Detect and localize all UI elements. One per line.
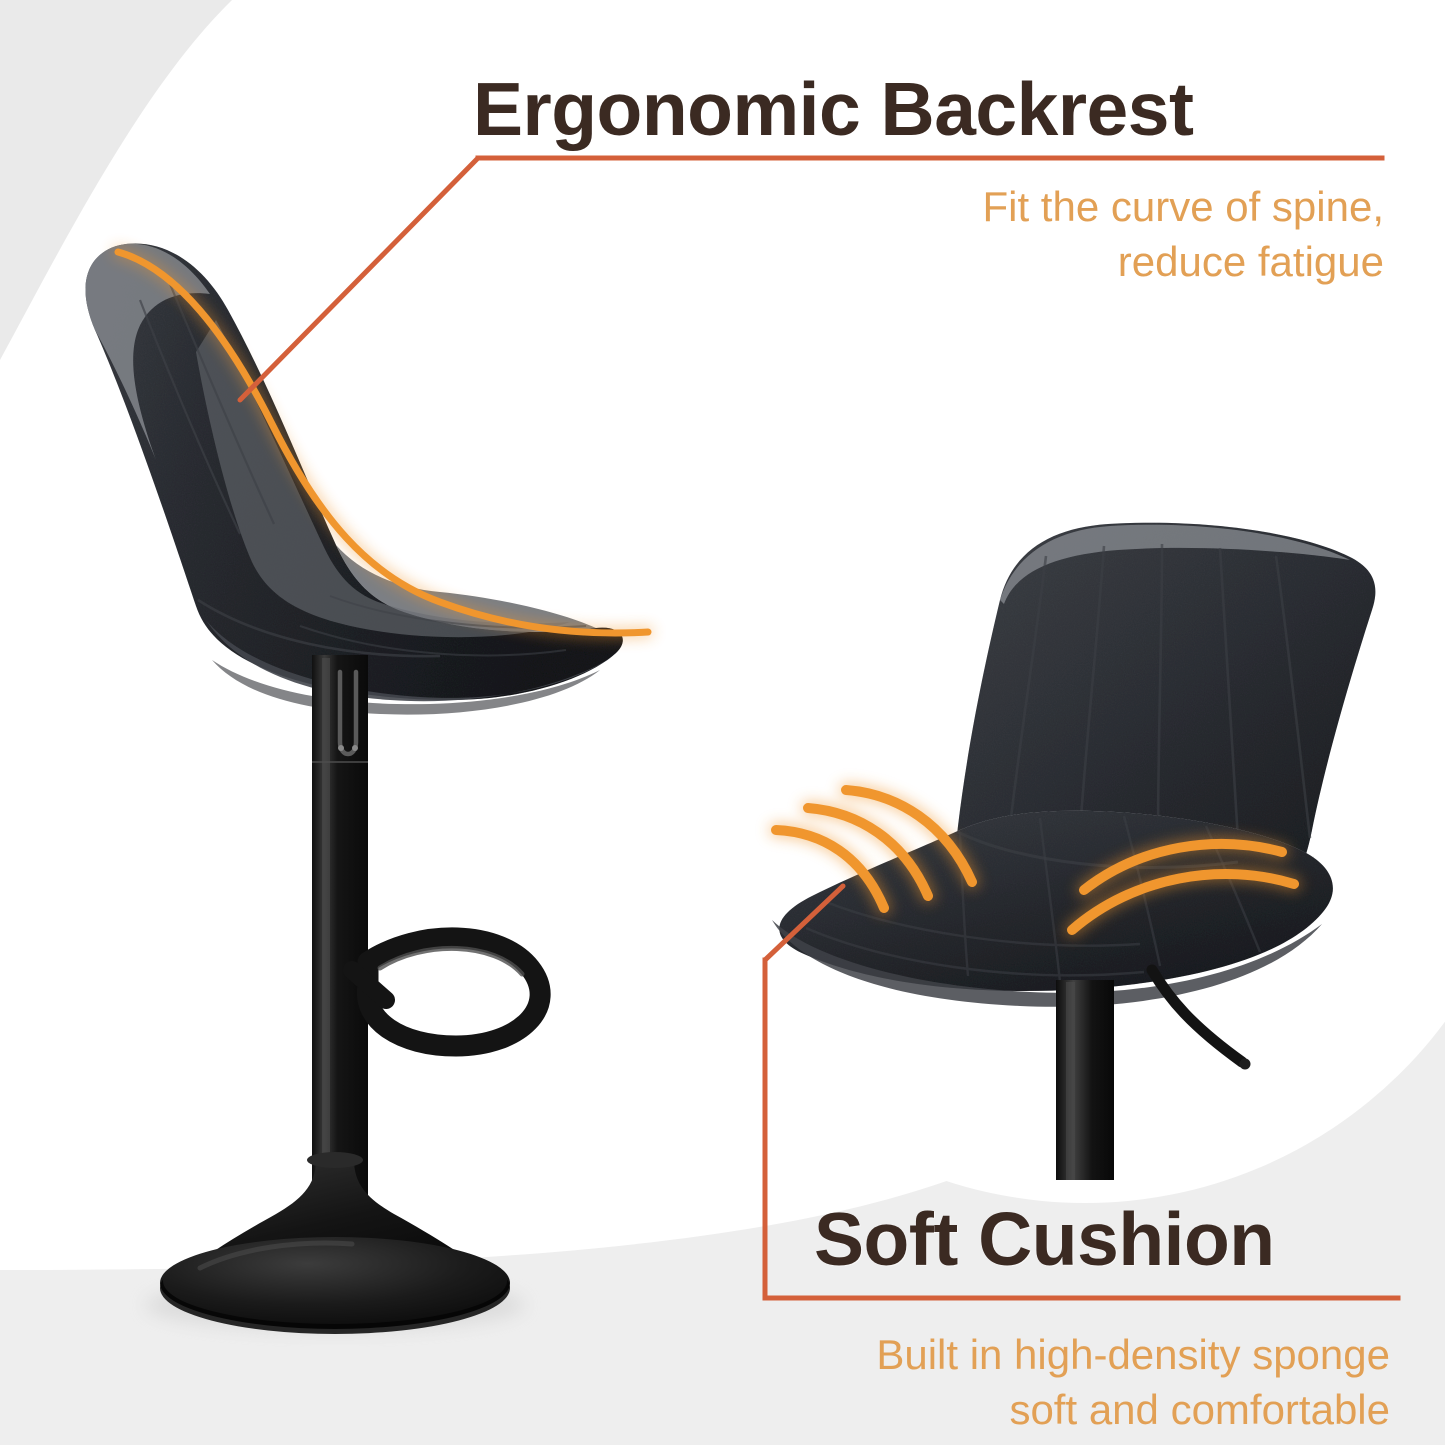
column-highlight — [322, 658, 330, 1194]
column-highlight — [1066, 982, 1075, 1180]
lever-pin-left — [338, 745, 344, 751]
base-collar — [307, 1152, 363, 1168]
base-disc-top — [163, 1238, 507, 1324]
artwork — [0, 0, 1445, 1445]
lever-pin-right — [352, 745, 358, 751]
infographic-canvas: Ergonomic Backrest Fit the curve of spin… — [0, 0, 1445, 1445]
gas-lift-column — [1056, 980, 1114, 1180]
lever-tip — [1240, 1059, 1251, 1070]
